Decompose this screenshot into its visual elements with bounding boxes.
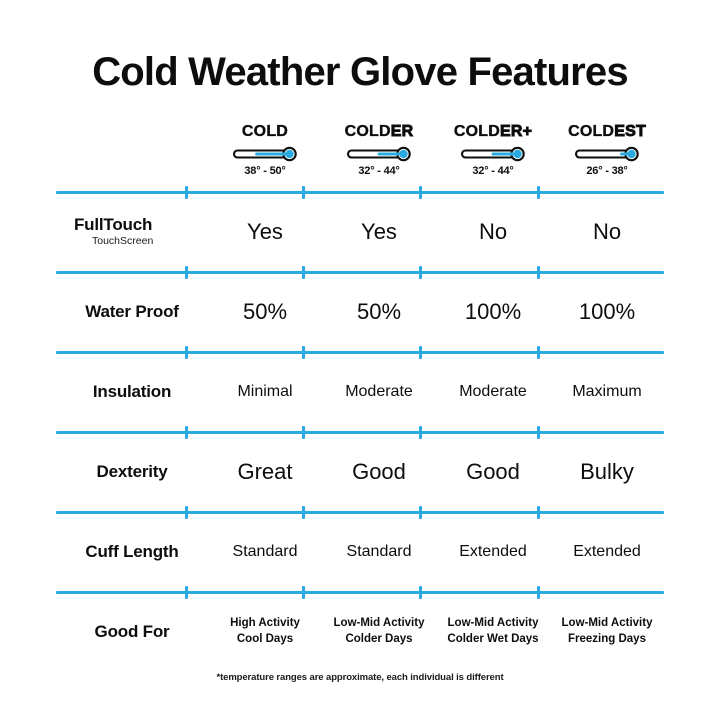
divider-line	[56, 511, 664, 514]
cell-value: Yes	[208, 219, 322, 245]
thermometer-icon	[346, 146, 412, 162]
divider-tick	[537, 426, 540, 439]
table-cell: 100%	[436, 299, 550, 325]
cell-value: 100%	[436, 299, 550, 325]
column-temp-range: 32° - 44°	[436, 165, 550, 177]
table-cell: Maximum	[550, 383, 664, 401]
cell-line: Low-Mid Activity	[322, 616, 436, 632]
row-divider-1	[56, 266, 664, 278]
table-cell: Extended	[436, 543, 550, 561]
table-cell: Minimal	[208, 383, 322, 401]
divider-tick	[302, 506, 305, 519]
row-label: Water Proof	[56, 303, 208, 322]
row-label: FullTouchTouchScreen	[56, 216, 208, 247]
column-name-emphasis: ER	[391, 123, 414, 140]
cell-value: No	[436, 219, 550, 245]
divider-tick	[537, 186, 540, 199]
divider-tick	[302, 266, 305, 279]
cell-line: Low-Mid Activity	[550, 616, 664, 632]
table-body: FullTouchTouchScreenYesYesNoNo Water Pro…	[56, 186, 664, 666]
table-cell: No	[550, 219, 664, 245]
cell-value: Minimal	[208, 383, 322, 401]
cell-value: Extended	[436, 543, 550, 561]
table-cell: 50%	[322, 299, 436, 325]
divider-tick	[185, 266, 188, 279]
row-label-cell: FullTouchTouchScreen	[56, 216, 208, 247]
column-name: COLDER	[322, 124, 436, 141]
cell-value: No	[550, 219, 664, 245]
cell-value: 50%	[322, 299, 436, 325]
table-cell: 50%	[208, 299, 322, 325]
cell-value: Low-Mid ActivityFreezing Days	[550, 616, 664, 647]
row-sublabel: TouchScreen	[92, 236, 208, 248]
divider-line	[56, 591, 664, 594]
divider-tick	[302, 426, 305, 439]
divider-tick	[419, 346, 422, 359]
cell-value: 50%	[208, 299, 322, 325]
row-divider-3	[56, 426, 664, 438]
table-cell: Standard	[208, 543, 322, 561]
divider-tick	[302, 186, 305, 199]
cell-value: High ActivityCool Days	[208, 616, 322, 647]
table-cell: Moderate	[322, 383, 436, 401]
divider-tick	[419, 426, 422, 439]
row-label-cell: Good For	[56, 623, 208, 642]
cell-value: Moderate	[436, 383, 550, 401]
table-cell: Good	[436, 459, 550, 485]
cell-value: Standard	[322, 543, 436, 561]
footnote: *temperature ranges are approximate, eac…	[0, 672, 720, 683]
divider-line	[56, 191, 664, 194]
row-label-cell: Water Proof	[56, 303, 208, 322]
column-name-base: COLD	[568, 123, 614, 140]
cell-line: Low-Mid Activity	[436, 616, 550, 632]
table-cell: Standard	[322, 543, 436, 561]
row-label: Cuff Length	[56, 543, 208, 562]
cell-value: Bulky	[550, 459, 664, 485]
table-cell: Bulky	[550, 459, 664, 485]
table-cell: Low-Mid ActivityFreezing Days	[550, 616, 664, 647]
divider-tick	[537, 586, 540, 599]
table-cell: 100%	[550, 299, 664, 325]
column-temp-range: 38° - 50°	[208, 165, 322, 177]
cell-value: Low-Mid ActivityColder Wet Days	[436, 616, 550, 647]
divider-tick	[185, 506, 188, 519]
column-name-base: COLD	[454, 123, 500, 140]
cell-value: Low-Mid ActivityColder Days	[322, 616, 436, 647]
thermometer-icon	[574, 146, 640, 162]
row-label-cell: Dexterity	[56, 463, 208, 482]
table-row: Cuff LengthStandardStandardExtendedExten…	[56, 518, 664, 586]
column-header-2: COLDER+ 32° - 44°	[436, 122, 550, 177]
table-row: FullTouchTouchScreenYesYesNoNo	[56, 198, 664, 266]
cell-value: Extended	[550, 543, 664, 561]
row-label: Insulation	[56, 383, 208, 402]
column-header-0: COLD 38° - 50°	[208, 122, 322, 177]
table-cell: No	[436, 219, 550, 245]
divider-tick	[419, 506, 422, 519]
cell-value: 100%	[550, 299, 664, 325]
divider-tick	[419, 186, 422, 199]
divider-tick	[302, 346, 305, 359]
column-name-base: COLD	[345, 123, 391, 140]
column-name-emphasis: EST	[614, 123, 646, 140]
cell-line: Colder Days	[322, 632, 436, 648]
cell-value: Good	[322, 459, 436, 485]
table-cell: High ActivityCool Days	[208, 616, 322, 647]
divider-tick	[185, 426, 188, 439]
row-label-cell: Cuff Length	[56, 543, 208, 562]
column-name: COLDER+	[436, 124, 550, 141]
glove-features-infographic: Cold Weather Glove Features COLD 38° - 5…	[0, 0, 720, 720]
thermometer-icon	[232, 146, 298, 162]
comparison-table: COLD 38° - 50° COLDER 32° - 44° COLDER+ …	[56, 122, 664, 666]
table-row: InsulationMinimalModerateModerateMaximum	[56, 358, 664, 426]
divider-tick	[185, 586, 188, 599]
cell-value: Moderate	[322, 383, 436, 401]
cell-value: Yes	[322, 219, 436, 245]
cell-line: Cool Days	[208, 632, 322, 648]
table-cell: Moderate	[436, 383, 550, 401]
cell-value: Good	[436, 459, 550, 485]
row-divider-2	[56, 346, 664, 358]
divider-tick	[185, 186, 188, 199]
row-divider-5	[56, 586, 664, 598]
divider-tick	[185, 346, 188, 359]
thermometer-icon	[460, 146, 526, 162]
column-temp-range: 26° - 38°	[550, 165, 664, 177]
row-label: Good For	[56, 623, 208, 642]
cell-value: Great	[208, 459, 322, 485]
cell-value: Maximum	[550, 383, 664, 401]
table-row: Water Proof50%50%100%100%	[56, 278, 664, 346]
row-divider-0	[56, 186, 664, 198]
table-cell: Low-Mid ActivityColder Wet Days	[436, 616, 550, 647]
divider-tick	[419, 586, 422, 599]
divider-line	[56, 431, 664, 434]
column-name: COLD	[208, 124, 322, 141]
page-title: Cold Weather Glove Features	[0, 50, 720, 95]
cell-line: High Activity	[208, 616, 322, 632]
table-cell: Extended	[550, 543, 664, 561]
cell-line: Colder Wet Days	[436, 632, 550, 648]
table-cell: Great	[208, 459, 322, 485]
divider-tick	[537, 346, 540, 359]
divider-line	[56, 351, 664, 354]
divider-line	[56, 271, 664, 274]
row-label-cell: Insulation	[56, 383, 208, 402]
column-name-base: COLD	[242, 123, 288, 140]
column-temp-range: 32° - 44°	[322, 165, 436, 177]
cell-value: Standard	[208, 543, 322, 561]
column-name: COLDEST	[550, 124, 664, 141]
table-cell: Good	[322, 459, 436, 485]
column-header-1: COLDER 32° - 44°	[322, 122, 436, 177]
table-cell: Low-Mid ActivityColder Days	[322, 616, 436, 647]
cell-line: Freezing Days	[550, 632, 664, 648]
table-header-row: COLD 38° - 50° COLDER 32° - 44° COLDER+ …	[56, 122, 664, 186]
divider-tick	[419, 266, 422, 279]
row-divider-4	[56, 506, 664, 518]
divider-tick	[302, 586, 305, 599]
table-row: DexterityGreatGoodGoodBulky	[56, 438, 664, 506]
row-label: Dexterity	[56, 463, 208, 482]
divider-tick	[537, 266, 540, 279]
column-header-3: COLDEST 26° - 38°	[550, 122, 664, 177]
table-cell: Yes	[208, 219, 322, 245]
table-cell: Yes	[322, 219, 436, 245]
table-row: Good ForHigh ActivityCool DaysLow-Mid Ac…	[56, 598, 664, 666]
divider-tick	[537, 506, 540, 519]
column-name-emphasis: ER+	[500, 123, 532, 140]
